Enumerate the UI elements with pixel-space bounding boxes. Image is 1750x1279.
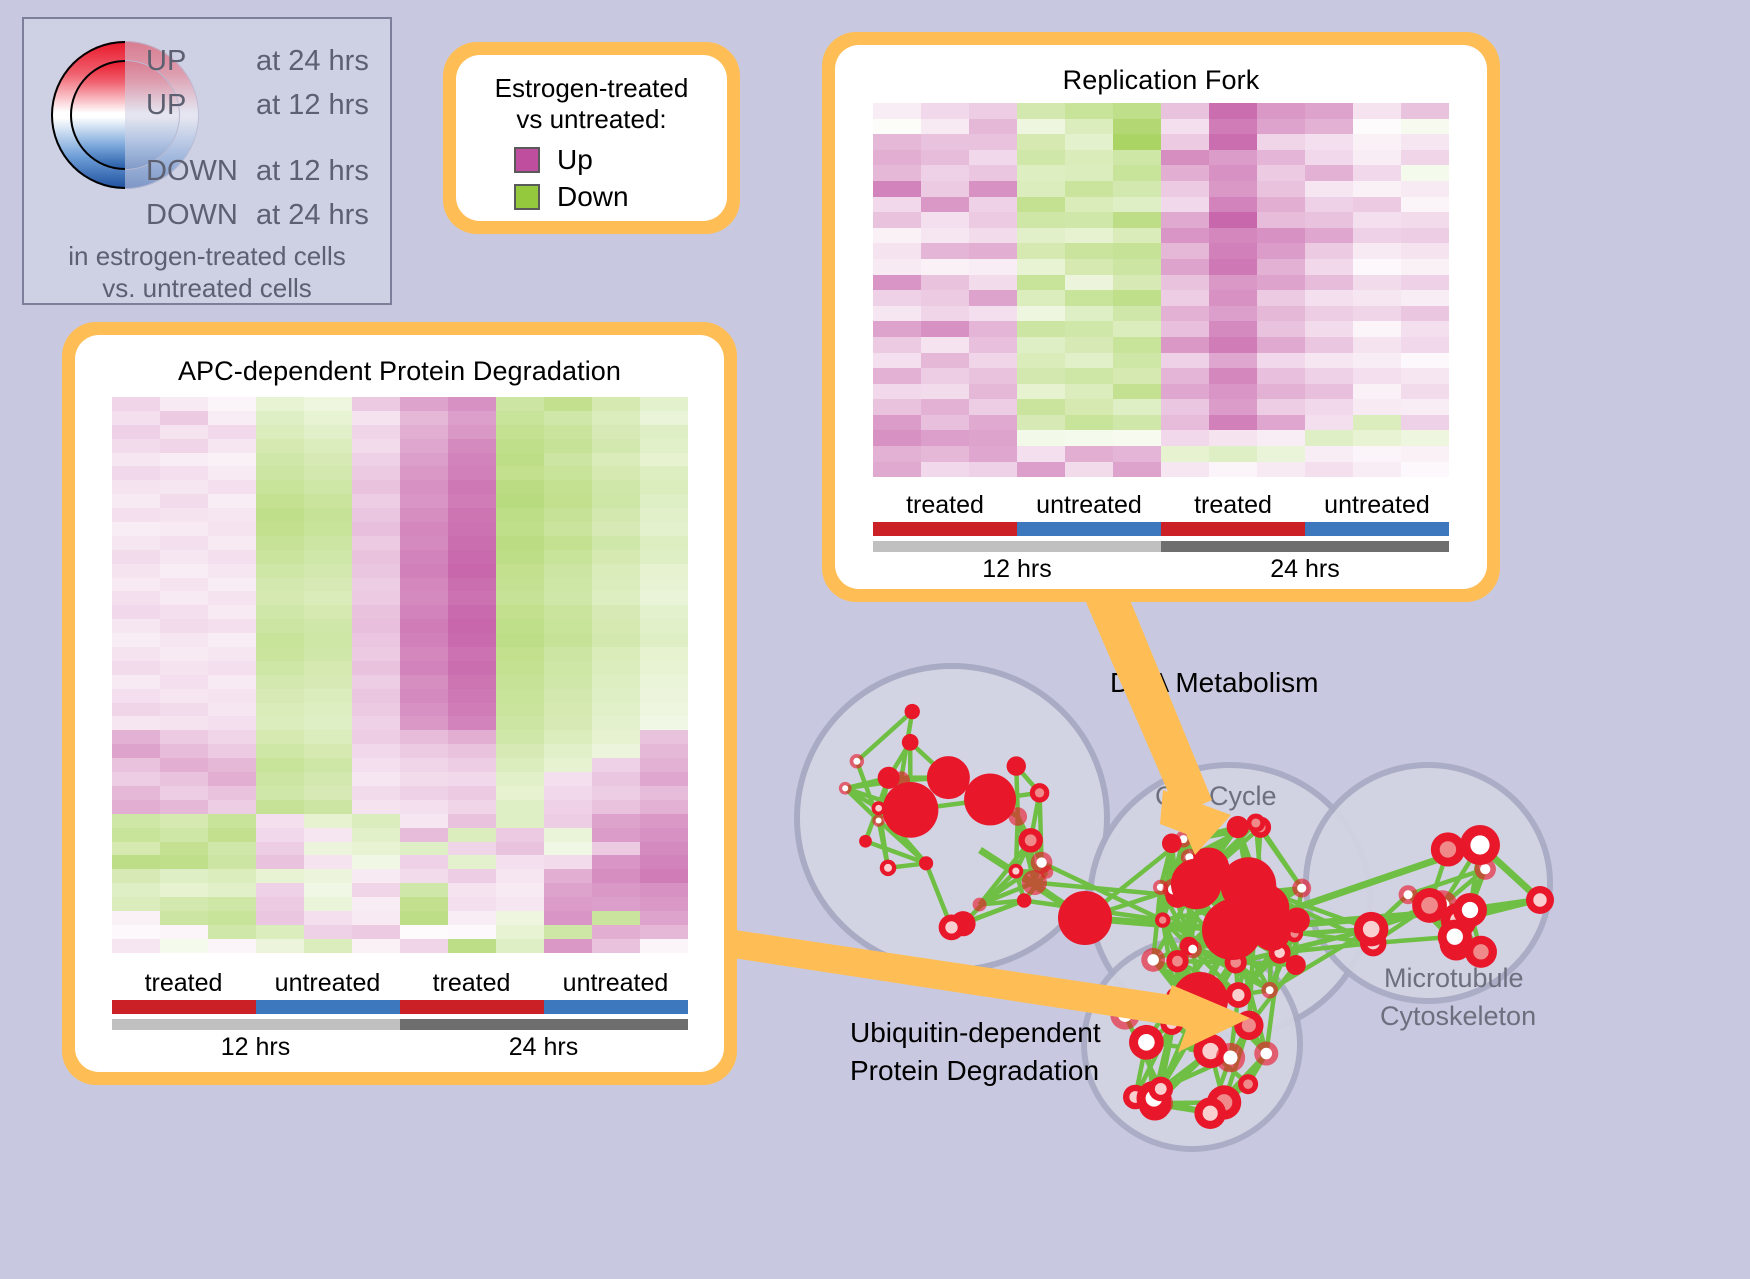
heatmap-cell [112, 716, 160, 730]
heatmap-cell [160, 716, 208, 730]
heatmap-cell [400, 536, 448, 550]
heatmap-cell [304, 689, 352, 703]
heatmap-cell [1113, 430, 1161, 446]
heatmap-cell [544, 855, 592, 869]
heatmap-cell [640, 869, 688, 883]
heatmap-cell [400, 828, 448, 842]
heatmap-cell [544, 619, 592, 633]
heatmap-cell [640, 411, 688, 425]
time-label-12hrs: 12 hrs [873, 555, 1161, 584]
heatmap-cell [160, 800, 208, 814]
heatmap-cell [1161, 181, 1209, 197]
heatmap-cell [592, 425, 640, 439]
heatmap-cell [1065, 353, 1113, 369]
heatmap-cell [1017, 181, 1065, 197]
heatmap-cell [400, 578, 448, 592]
heatmap-cell [208, 716, 256, 730]
heatmap-cell [304, 842, 352, 856]
heatmap-cell [256, 842, 304, 856]
heatmap-cell [1209, 321, 1257, 337]
heatmap-cell [921, 306, 969, 322]
heatmap-cell [1209, 228, 1257, 244]
heatmap-cell [352, 647, 400, 661]
heatmap-cell [1113, 415, 1161, 431]
heatmap-cell [1401, 321, 1449, 337]
heatmap-cell [1209, 446, 1257, 462]
heatmap-cell [873, 119, 921, 135]
heatmap-cell [160, 911, 208, 925]
heatmap-cell [873, 134, 921, 150]
heatmap-cell [160, 536, 208, 550]
heatmap-cell [208, 730, 256, 744]
heatmap-cell [873, 462, 921, 478]
heatmap-cell [592, 925, 640, 939]
heatmap-cell [160, 855, 208, 869]
heatmap-cell [208, 411, 256, 425]
heatmap-cell [1017, 462, 1065, 478]
heatmap-cell [400, 661, 448, 675]
heatmap-cell [112, 786, 160, 800]
colorwheel-caption: in estrogen-treated cells vs. untreated … [24, 241, 390, 304]
heatmap-cell [208, 800, 256, 814]
heatmap-cell [921, 321, 969, 337]
heatmap-cell [352, 411, 400, 425]
heatmap-cell [160, 842, 208, 856]
heatmap-cell [448, 522, 496, 536]
group-label-treated-24: treated [400, 969, 544, 998]
heatmap-cell [304, 494, 352, 508]
heatmap-cell [352, 689, 400, 703]
heatmap-cell [1401, 181, 1449, 197]
heatmap-cell [640, 578, 688, 592]
heatmap-cell [969, 103, 1017, 119]
heatmap-cell [1017, 306, 1065, 322]
direction-label: DOWN [146, 199, 256, 232]
heatmap-cell [1065, 430, 1113, 446]
heatmap-cell [592, 494, 640, 508]
heatmap-cell [640, 689, 688, 703]
heatmap-cell [352, 703, 400, 717]
heatmap-cell [208, 703, 256, 717]
heatmap-cell [1017, 368, 1065, 384]
heatmap-cell [400, 411, 448, 425]
heatmap-cell [208, 550, 256, 564]
heatmap-cell [592, 661, 640, 675]
heatmap-cell [1401, 119, 1449, 135]
heatmap-cell [1017, 446, 1065, 462]
heatmap-cell [448, 828, 496, 842]
heatmap-cell [304, 536, 352, 550]
heatmap-cell [400, 633, 448, 647]
heatmap-cell [208, 758, 256, 772]
heatmap-cell [592, 689, 640, 703]
heatmap-cell [304, 439, 352, 453]
heatmap-cell [448, 508, 496, 522]
heatmap-cell [352, 828, 400, 842]
heatmap-cell [544, 842, 592, 856]
heatmap-cell [304, 939, 352, 953]
heatmap-cell [448, 675, 496, 689]
heatmap-cell [304, 647, 352, 661]
heatmap-cell [1401, 103, 1449, 119]
heatmap-cell [1305, 430, 1353, 446]
heatmap-cell [448, 619, 496, 633]
heatmap-cell [592, 633, 640, 647]
heatmap-cell [112, 466, 160, 480]
heatmap-cell [448, 730, 496, 744]
heatmap-cell [592, 522, 640, 536]
heatmap-cell [352, 578, 400, 592]
heatmap-cell [304, 564, 352, 578]
heatmap-cell [592, 939, 640, 953]
heatmap-cell [1017, 134, 1065, 150]
heatmap-cell [448, 939, 496, 953]
heatmap-cell [112, 675, 160, 689]
heatmap-cell [969, 368, 1017, 384]
heatmap-cell [112, 911, 160, 925]
heatmap-cell [1353, 181, 1401, 197]
heatmap-cell [921, 415, 969, 431]
heatmap-cell [496, 633, 544, 647]
heatmap-cell [873, 275, 921, 291]
heatmap-cell [1065, 415, 1113, 431]
heatmap-cell [256, 689, 304, 703]
heatmap-cell [112, 897, 160, 911]
heatmap-cell [400, 522, 448, 536]
heatmap-cell [352, 494, 400, 508]
heatmap-cell [1065, 275, 1113, 291]
heatmap-cell [640, 939, 688, 953]
heatmap-cell [448, 411, 496, 425]
caption-line-1: in estrogen-treated cells [24, 241, 390, 273]
heatmap-cell [1209, 181, 1257, 197]
heatmap-cell [448, 550, 496, 564]
heatmap-cell [1401, 275, 1449, 291]
heatmap-cell [256, 411, 304, 425]
heatmap-cell [256, 800, 304, 814]
group-bar-untreated-24 [544, 1000, 688, 1014]
heatmap-cell [112, 647, 160, 661]
heatmap-cell [921, 290, 969, 306]
heatmap-cell [1113, 228, 1161, 244]
heatmap-cell [256, 466, 304, 480]
heatmap-cell [873, 368, 921, 384]
heatmap-cell [256, 897, 304, 911]
heatmap-cell [496, 730, 544, 744]
heatmap-cell [921, 181, 969, 197]
heatmap-cell [640, 800, 688, 814]
heatmap-cell [592, 411, 640, 425]
heatmap-cell [160, 522, 208, 536]
heatmap-cell [256, 425, 304, 439]
heatmap-cell [496, 911, 544, 925]
heatmap-cell [1257, 368, 1305, 384]
heatmap-cell [544, 883, 592, 897]
heatmap-cell [256, 536, 304, 550]
heatmap-cell [1017, 259, 1065, 275]
heatmap-cell [112, 883, 160, 897]
colorwheel-legend-box: UP at 24 hrs UP at 12 hrs DOWN at 12 hrs… [22, 17, 392, 305]
heatmap-cell [1257, 165, 1305, 181]
heatmap-cell [352, 855, 400, 869]
heatmap-cell [969, 119, 1017, 135]
heatmap-cell [448, 605, 496, 619]
heatmap-cell [1113, 399, 1161, 415]
heatmap-cell [256, 439, 304, 453]
heatmap-cell [304, 619, 352, 633]
heatmap-cell [921, 150, 969, 166]
heatmap-cell [352, 591, 400, 605]
time-bar-12hrs [112, 1019, 400, 1030]
heatmap-cell [1401, 165, 1449, 181]
heatmap-cell [1017, 150, 1065, 166]
heatmap-cell [921, 462, 969, 478]
heatmap-cell [921, 353, 969, 369]
group-labels: treated untreated treated untreated [873, 491, 1449, 520]
heatmap-cell [969, 384, 1017, 400]
heatmap-cell [112, 772, 160, 786]
heatmap-cell [640, 591, 688, 605]
heatmap-cell [112, 411, 160, 425]
heatmap-cell [160, 869, 208, 883]
heatmap-cell [160, 508, 208, 522]
heatmap-cell [352, 480, 400, 494]
heatmap-cell [352, 814, 400, 828]
time-bar-24hrs [1161, 541, 1449, 552]
group-label-treated-12: treated [873, 491, 1017, 520]
heatmap-cell [208, 397, 256, 411]
heatmap-axis-replication-fork: treated untreated treated untreated 12 h [873, 491, 1449, 584]
heatmap-cell [640, 925, 688, 939]
heatmap-cell [448, 633, 496, 647]
heatmap-cell [112, 842, 160, 856]
heatmap-cell [208, 591, 256, 605]
heatmap-cell [352, 425, 400, 439]
heatmap-cell [1401, 368, 1449, 384]
heatmap-cell [592, 439, 640, 453]
heatmap-cell [304, 508, 352, 522]
heatmap-cell [112, 564, 160, 578]
heatmap-cell [1209, 415, 1257, 431]
heatmap-cell [208, 925, 256, 939]
heatmap-cell [160, 411, 208, 425]
heatmap-cell [448, 480, 496, 494]
heatmap-cell [352, 522, 400, 536]
heatmap-cell [1353, 368, 1401, 384]
heatmap-cell [208, 772, 256, 786]
heatmap-cell [256, 619, 304, 633]
heatmap-cell [640, 703, 688, 717]
arrow-replication-fork [1085, 600, 1231, 855]
heatmap-cell [640, 744, 688, 758]
down-swatch-icon [514, 184, 540, 210]
heatmap-cell [496, 828, 544, 842]
heatmap-cell [544, 480, 592, 494]
panel-apc-dependent-protein-degradation: APC-dependent Protein Degradation treate… [62, 322, 737, 1085]
heatmap-cell [1209, 462, 1257, 478]
heatmap-cell [352, 869, 400, 883]
heatmap-cell [1113, 384, 1161, 400]
heatmap-cell [544, 605, 592, 619]
heatmap-cell [1257, 399, 1305, 415]
heatmap-cell [1257, 306, 1305, 322]
group-color-bar [873, 522, 1449, 536]
heatmap-cell [256, 869, 304, 883]
heatmap-cell [112, 494, 160, 508]
group-bar-treated-24 [1161, 522, 1305, 536]
heatmap-cell [969, 462, 1017, 478]
heatmap-cell [1257, 415, 1305, 431]
heatmap-cell [448, 883, 496, 897]
heatmap-cell [640, 536, 688, 550]
heatmap-cell [1113, 212, 1161, 228]
heatmap-cell [448, 578, 496, 592]
heatmap-cell [1353, 197, 1401, 213]
heatmap-cell [1257, 259, 1305, 275]
heatmap-cell [496, 925, 544, 939]
heatmap-cell [160, 730, 208, 744]
heatmap-cell [448, 869, 496, 883]
heatmap-cell [496, 842, 544, 856]
heatmap-cell [592, 883, 640, 897]
heatmap-cell [208, 494, 256, 508]
heatmap-cell [592, 619, 640, 633]
heatmap-cell [640, 786, 688, 800]
heatmap-cell [1353, 259, 1401, 275]
group-label-untreated-12: untreated [256, 969, 400, 998]
heatmap-cell [921, 119, 969, 135]
heatmap-cell [1353, 462, 1401, 478]
heatmap-cell [400, 855, 448, 869]
heatmap-cell [304, 703, 352, 717]
heatmap-cell [352, 925, 400, 939]
heatmap-cell [160, 772, 208, 786]
heatmap-cell [592, 855, 640, 869]
heatmap-cell [921, 103, 969, 119]
heatmap-cell [1113, 103, 1161, 119]
heatmap-cell [592, 703, 640, 717]
heatmap-cell [496, 605, 544, 619]
heatmap-cell [1017, 228, 1065, 244]
heatmap-grid [873, 103, 1449, 477]
heatmap-cell [1401, 415, 1449, 431]
heatmap-cell [1257, 134, 1305, 150]
heatmap-cell [448, 564, 496, 578]
heatmap-cell [640, 466, 688, 480]
heatmap-cell [1017, 337, 1065, 353]
heatmap-cell [400, 550, 448, 564]
heatmap-cell [1209, 337, 1257, 353]
heatmap-cell [352, 939, 400, 953]
heatmap-cell [112, 939, 160, 953]
heatmap-cell [1353, 399, 1401, 415]
heatmap-cell [256, 786, 304, 800]
heatmap-cell [208, 869, 256, 883]
heatmap-cell [640, 494, 688, 508]
heatmap-cell [352, 897, 400, 911]
heatmap-cell [208, 647, 256, 661]
heatmap-cell [160, 453, 208, 467]
heatmap-cell [160, 758, 208, 772]
heatmap-cell [1257, 462, 1305, 478]
heatmap-cell [352, 550, 400, 564]
heatmap-cell [112, 814, 160, 828]
heatmap-cell [1353, 430, 1401, 446]
heatmap-cell [1305, 290, 1353, 306]
heatmap-cell [921, 384, 969, 400]
heatmap-cell [1305, 399, 1353, 415]
heatmap-cell [1017, 290, 1065, 306]
heatmap-cell [352, 453, 400, 467]
panel-title-apc: APC-dependent Protein Degradation [75, 335, 724, 387]
heatmap-cell [400, 744, 448, 758]
heatmap-cell [873, 103, 921, 119]
heatmap-cell [208, 522, 256, 536]
heatmap-cell [208, 911, 256, 925]
heatmap-cell [1353, 306, 1401, 322]
heatmap-cell [640, 647, 688, 661]
colorwheel-row-up-24: UP at 24 hrs [146, 45, 396, 89]
heatmap-cell [400, 869, 448, 883]
heatmap-cell [448, 591, 496, 605]
group-bar-treated-12 [112, 1000, 256, 1014]
updown-legend-panel: Estrogen-treated vs untreated: Up Down [443, 42, 740, 234]
heatmap-cell [1113, 353, 1161, 369]
heatmap-cell [496, 869, 544, 883]
heatmap-cell [160, 605, 208, 619]
heatmap-cell [400, 647, 448, 661]
heatmap-cell [969, 415, 1017, 431]
heatmap-cell [160, 675, 208, 689]
heatmap-cell [873, 321, 921, 337]
heatmap-cell [160, 647, 208, 661]
heatmap-cell [592, 744, 640, 758]
heatmap-cell [1305, 228, 1353, 244]
heatmap-cell [1113, 181, 1161, 197]
heatmap-cell [1065, 197, 1113, 213]
heatmap-cell [352, 605, 400, 619]
heatmap-cell [400, 939, 448, 953]
heatmap-cell [873, 181, 921, 197]
heatmap-cell [1065, 243, 1113, 259]
heatmap-cell [256, 453, 304, 467]
heatmap-cell [448, 439, 496, 453]
heatmap-cell [400, 675, 448, 689]
heatmap-cell [1209, 259, 1257, 275]
heatmap-cell [160, 550, 208, 564]
heatmap-cell [873, 259, 921, 275]
heatmap-cell [112, 578, 160, 592]
heatmap-cell [1113, 306, 1161, 322]
heatmap-cell [208, 675, 256, 689]
heatmap-cell [400, 466, 448, 480]
heatmap-cell [400, 772, 448, 786]
heatmap-cell [400, 800, 448, 814]
heatmap-cell [352, 800, 400, 814]
heatmap-cell [1209, 430, 1257, 446]
heatmap-cell [352, 744, 400, 758]
heatmap-cell [969, 259, 1017, 275]
heatmap-cell [592, 564, 640, 578]
heatmap-cell [160, 786, 208, 800]
heatmap-cell [592, 758, 640, 772]
heatmap-cell [592, 786, 640, 800]
heatmap-cell [544, 911, 592, 925]
heatmap-cell [544, 689, 592, 703]
heatmap-cell [256, 925, 304, 939]
heatmap-cell [1161, 446, 1209, 462]
heatmap-cell [208, 828, 256, 842]
